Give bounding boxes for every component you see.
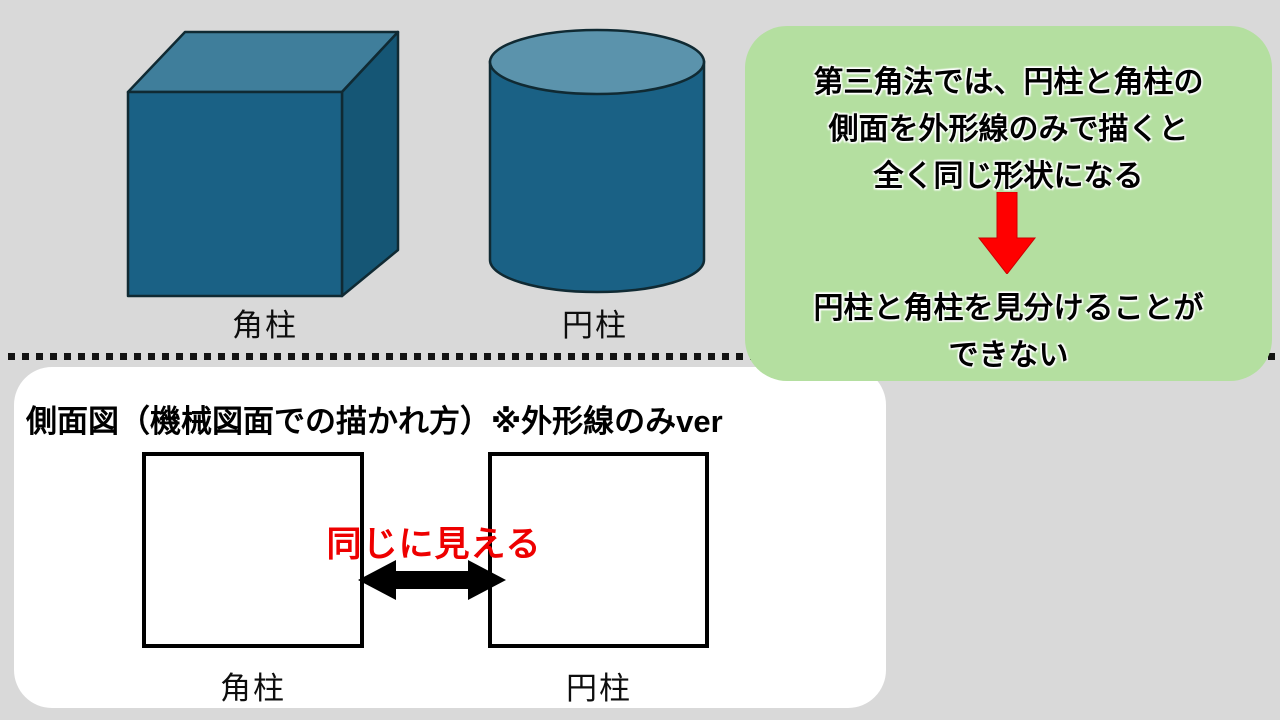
slide-canvas: 角柱 円柱 側面図（機械図面での描かれ方）※外形線のみver 同じに見える 角柱… (0, 0, 1280, 720)
red-arrow-svg (975, 192, 1039, 274)
callout-line-1: 第三角法では、円柱と角柱の (745, 57, 1272, 101)
callout-line-4: 円柱と角柱を見分けることが (745, 283, 1272, 327)
cube-front-face (128, 92, 342, 296)
callout-line-5: できない (745, 330, 1272, 374)
prism-side-view-label: 角柱 (148, 663, 358, 708)
double-arrow-shape (358, 560, 506, 600)
cylinder-side-view-label: 円柱 (494, 663, 704, 708)
cube-3d-icon (110, 22, 420, 307)
cylinder-top-face (490, 30, 704, 94)
side-view-panel-title: 側面図（機械図面での描かれ方）※外形線のみver (26, 396, 723, 441)
red-down-arrow-icon (975, 192, 1039, 274)
cylinder-3d-svg (472, 22, 722, 307)
cylinder-figure-label: 円柱 (490, 300, 700, 345)
callout-line-3: 全く同じ形状になる (745, 151, 1272, 195)
cylinder-body (490, 62, 704, 292)
callout-line-2: 側面を外形線のみで描くと (745, 104, 1272, 148)
cylinder-3d-icon (472, 22, 722, 307)
double-headed-horizontal-arrow-icon (358, 558, 506, 602)
prism-figure-label: 角柱 (160, 300, 370, 345)
red-arrow-shape (979, 192, 1035, 274)
double-arrow-svg (358, 558, 506, 602)
cube-3d-svg (110, 22, 420, 307)
